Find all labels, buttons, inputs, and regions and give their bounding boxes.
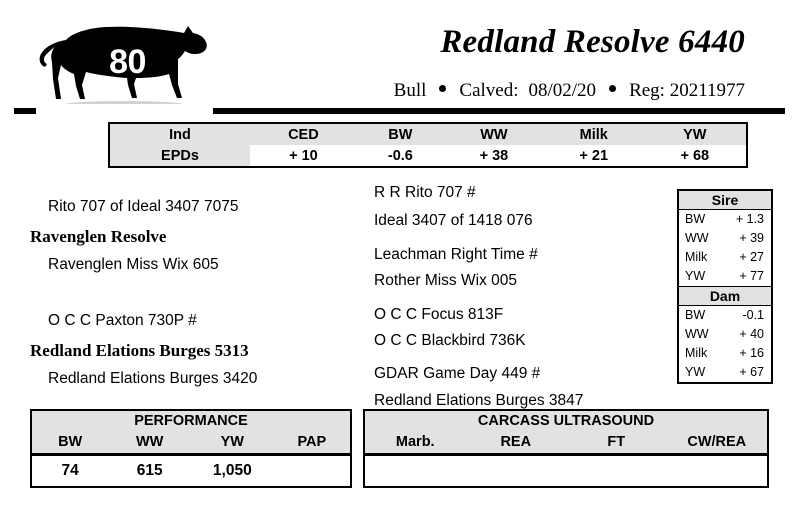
lot-image: 80 <box>36 12 213 112</box>
carcass-ultrasound-table: CARCASS ULTRASOUND Marb. REA FT CW/REA <box>363 409 769 488</box>
sire-value-milk: + 27 <box>739 248 764 267</box>
epd-value-milk: + 21 <box>544 145 644 167</box>
pedigree-ggp-sire-4: Rother Miss Wix 005 <box>374 272 517 290</box>
pedigree-ggp-sire-3: Leachman Right Time # <box>374 246 538 264</box>
dam-epd-row-ww: WW + 40 <box>679 325 771 344</box>
sire-epd-row-milk: Milk + 27 <box>679 248 771 267</box>
page-title: Redland Resolve 6440 <box>440 24 745 61</box>
header-divider-mask <box>36 104 213 114</box>
performance-title: PERFORMANCE <box>32 411 350 431</box>
sire-trait-bw: BW <box>685 210 705 229</box>
sire-epd-row-yw: YW + 77 <box>679 267 771 286</box>
lot-number: 80 <box>36 12 213 112</box>
pedigree-ggp-dam-1: O C C Focus 813F <box>374 306 503 324</box>
carcass-column-marb: Marb. <box>365 431 466 453</box>
pedigree-dam: Redland Elations Burges 5313 <box>30 341 249 361</box>
catalog-header: 80 Redland Resolve 6440 Bull Calved: 08/… <box>0 0 799 116</box>
pedigree-ggp-sire-2: Ideal 3407 of 1418 076 <box>374 212 533 230</box>
dam-epd-row-bw: BW -0.1 <box>679 306 771 325</box>
dam-trait-milk: Milk <box>685 344 707 363</box>
dam-trait-ww: WW <box>685 325 709 344</box>
sire-value-ww: + 39 <box>739 229 764 248</box>
epd-column-milk: Milk <box>544 123 644 145</box>
pedigree-dam-granddam: Redland Elations Burges 3420 <box>48 370 257 388</box>
epd-row-label-epds: EPDs <box>109 145 250 167</box>
dam-value-bw: -0.1 <box>742 306 764 325</box>
animal-sex: Bull <box>394 80 427 102</box>
sire-trait-milk: Milk <box>685 248 707 267</box>
performance-value-yw: 1,050 <box>191 456 274 486</box>
dam-epd-row-yw: YW + 67 <box>679 363 771 382</box>
carcass-data-row <box>365 456 767 486</box>
pedigree-ggp-sire-1: R R Rito 707 # <box>374 184 476 202</box>
epd-header-row: Ind CED BW WW Milk YW <box>109 123 747 145</box>
sire-value-bw: + 1.3 <box>736 210 764 229</box>
epd-column-ww: WW <box>444 123 544 145</box>
carcass-value-rea <box>466 456 567 486</box>
performance-data-row: 74 615 1,050 <box>32 456 350 486</box>
sire-value-yw: + 77 <box>739 267 764 286</box>
sire-epd-row-ww: WW + 39 <box>679 229 771 248</box>
performance-value-bw: 74 <box>32 456 108 486</box>
dam-epd-row-milk: Milk + 16 <box>679 344 771 363</box>
dam-trait-bw: BW <box>685 306 705 325</box>
dam-value-milk: + 16 <box>739 344 764 363</box>
epd-row-label-ind: Ind <box>109 123 250 145</box>
carcass-value-ft <box>566 456 667 486</box>
epd-column-ced: CED <box>250 123 357 145</box>
performance-value-pap <box>274 456 350 486</box>
pedigree-sire-grandsire: Rito 707 of Ideal 3407 7075 <box>48 198 238 216</box>
header-divider-stub <box>14 108 28 114</box>
epd-values-row: EPDs + 10 -0.6 + 38 + 21 + 68 <box>109 145 747 167</box>
sire-trait-yw: YW <box>685 267 705 286</box>
performance-header: PERFORMANCE BW WW YW PAP <box>32 411 350 456</box>
sire-epd-row-bw: BW + 1.3 <box>679 210 771 229</box>
performance-column-ww: WW <box>108 431 191 453</box>
carcass-column-cwrea: CW/REA <box>667 431 768 453</box>
carcass-header: CARCASS ULTRASOUND Marb. REA FT CW/REA <box>365 411 767 456</box>
bullet-separator-icon <box>439 85 446 92</box>
pedigree-ggp-dam-2: O C C Blackbird 736K <box>374 332 526 350</box>
epd-value-ced: + 10 <box>250 145 357 167</box>
dam-value-yw: + 67 <box>739 363 764 382</box>
carcass-value-cwrea <box>667 456 768 486</box>
performance-value-ww: 615 <box>108 456 191 486</box>
performance-column-bw: BW <box>32 431 108 453</box>
registration-number: Reg: 20211977 <box>629 80 745 102</box>
pedigree-sire: Ravenglen Resolve <box>30 227 166 247</box>
performance-column-pap: PAP <box>274 431 350 453</box>
carcass-column-rea: REA <box>466 431 567 453</box>
calved-label: Calved: <box>459 80 518 102</box>
carcass-value-marb <box>365 456 466 486</box>
epd-value-bw: -0.6 <box>357 145 444 167</box>
animal-subtitle: Bull Calved: 08/02/20 Reg: 20211977 <box>394 80 745 102</box>
epd-value-yw: + 68 <box>644 145 747 167</box>
performance-table: PERFORMANCE BW WW YW PAP 74 615 1,050 <box>30 409 352 488</box>
pedigree-ggp-dam-3: GDAR Game Day 449 # <box>374 365 540 383</box>
pedigree-ggp-dam-4: Redland Elations Burges 3847 <box>374 392 583 410</box>
dam-value-ww: + 40 <box>739 325 764 344</box>
epd-column-bw: BW <box>357 123 444 145</box>
sire-dam-epd-box: Sire BW + 1.3 WW + 39 Milk + 27 YW + 77 … <box>677 189 773 384</box>
carcass-column-ft: FT <box>566 431 667 453</box>
bullet-separator-icon-2 <box>609 85 616 92</box>
dam-section-title: Dam <box>679 286 771 306</box>
carcass-title: CARCASS ULTRASOUND <box>365 411 767 431</box>
pedigree-dam-grandsire: O C C Paxton 730P # <box>48 312 197 330</box>
pedigree-sire-granddam: Ravenglen Miss Wix 605 <box>48 256 219 274</box>
epd-table: Ind CED BW WW Milk YW EPDs + 10 -0.6 + 3… <box>108 122 748 168</box>
carcass-column-row: Marb. REA FT CW/REA <box>365 431 767 453</box>
epd-value-ww: + 38 <box>444 145 544 167</box>
sire-trait-ww: WW <box>685 229 709 248</box>
calved-date: 08/02/20 <box>529 80 597 102</box>
dam-trait-yw: YW <box>685 363 705 382</box>
epd-column-yw: YW <box>644 123 747 145</box>
sire-section-title: Sire <box>679 191 771 210</box>
performance-column-row: BW WW YW PAP <box>32 431 350 453</box>
performance-column-yw: YW <box>191 431 274 453</box>
